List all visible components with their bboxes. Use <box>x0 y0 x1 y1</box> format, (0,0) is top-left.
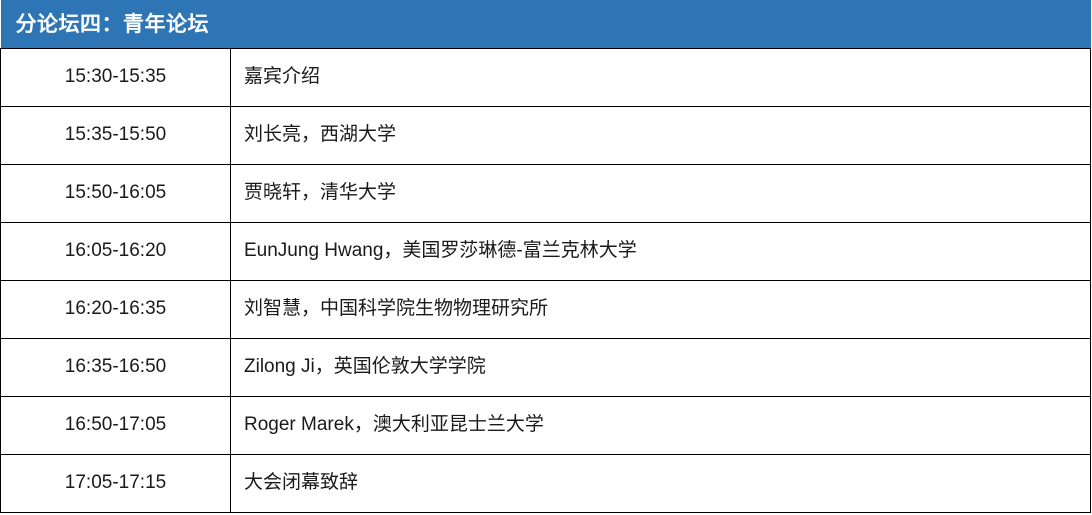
row-time: 16:20-16:35 <box>1 281 231 339</box>
section-title: 分论坛四：青年论坛 <box>16 14 210 35</box>
row-content: 贾晓轩，清华大学 <box>231 165 1091 223</box>
row-time: 16:35-16:50 <box>1 339 231 397</box>
table-row: 16:20-16:35 刘智慧，中国科学院生物物理研究所 <box>1 281 1091 339</box>
table-row: 16:50-17:05 Roger Marek，澳大利亚昆士兰大学 <box>1 397 1091 455</box>
row-time: 15:30-15:35 <box>1 49 231 107</box>
table-row: 17:05-17:15 大会闭幕致辞 <box>1 455 1091 513</box>
table-row: 16:35-16:50 Zilong Ji，英国伦敦大学学院 <box>1 339 1091 397</box>
table-row: 15:30-15:35 嘉宾介绍 <box>1 49 1091 107</box>
row-time: 17:05-17:15 <box>1 455 231 513</box>
table-row: 15:35-15:50 刘长亮，西湖大学 <box>1 107 1091 165</box>
section-header-row: 分论坛四：青年论坛 <box>1 0 1091 49</box>
row-content: 嘉宾介绍 <box>231 49 1091 107</box>
row-content: 大会闭幕致辞 <box>231 455 1091 513</box>
row-time: 16:05-16:20 <box>1 223 231 281</box>
row-content: EunJung Hwang，美国罗莎琳德-富兰克林大学 <box>231 223 1091 281</box>
row-time: 16:50-17:05 <box>1 397 231 455</box>
session-schedule-table: 分论坛四：青年论坛 15:30-15:35 嘉宾介绍 15:35-15:50 刘… <box>0 0 1091 513</box>
row-content: Zilong Ji，英国伦敦大学学院 <box>231 339 1091 397</box>
row-content: Roger Marek，澳大利亚昆士兰大学 <box>231 397 1091 455</box>
row-time: 15:50-16:05 <box>1 165 231 223</box>
row-content: 刘智慧，中国科学院生物物理研究所 <box>231 281 1091 339</box>
row-time: 15:35-15:50 <box>1 107 231 165</box>
schedule-body: 15:30-15:35 嘉宾介绍 15:35-15:50 刘长亮，西湖大学 15… <box>1 49 1091 513</box>
table-row: 15:50-16:05 贾晓轩，清华大学 <box>1 165 1091 223</box>
row-content: 刘长亮，西湖大学 <box>231 107 1091 165</box>
section-header-cell: 分论坛四：青年论坛 <box>1 0 1091 49</box>
section-header-banner: 分论坛四：青年论坛 <box>1 0 1091 48</box>
table-row: 16:05-16:20 EunJung Hwang，美国罗莎琳德-富兰克林大学 <box>1 223 1091 281</box>
